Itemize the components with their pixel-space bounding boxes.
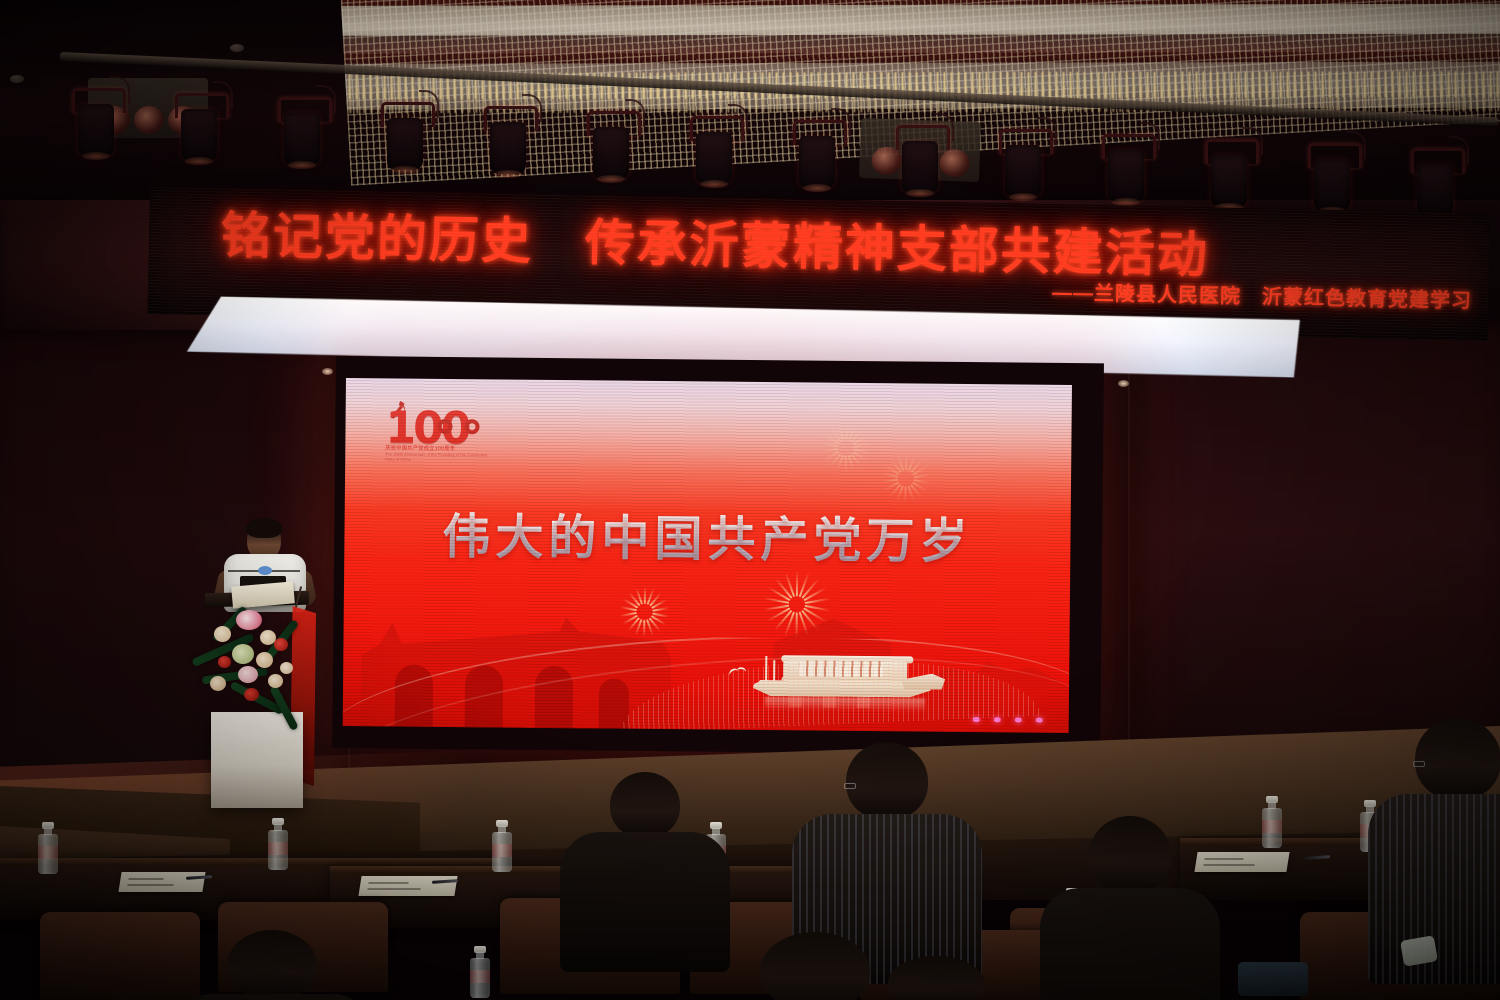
- downlight-icon: [322, 368, 333, 375]
- spotlight-1: [70, 88, 122, 162]
- spotlight-3: [276, 97, 328, 171]
- bag: [1238, 962, 1308, 996]
- smoke-detector-icon: [10, 75, 24, 83]
- water-bottle: [268, 818, 288, 870]
- wall-seam: [1128, 320, 1130, 790]
- downlight-icon: [1118, 380, 1129, 387]
- spotlight-13: [1306, 143, 1358, 217]
- lily-bloom: [236, 610, 262, 630]
- logo-zh-caption: 庆祝中国共产党成立100周年: [385, 444, 493, 453]
- banner-sub-text: ——兰陵县人民医院 沂蒙红色教育党建学习: [1052, 276, 1472, 313]
- spotlight-4: [379, 102, 431, 176]
- floral-arrangement: [198, 608, 328, 728]
- rose-bloom: [280, 662, 293, 674]
- audience-member: [836, 956, 1036, 1000]
- screen-title: 伟大的中国共产党万岁: [344, 496, 1071, 573]
- logo-ring-1: [437, 419, 452, 434]
- document-sheet: [358, 876, 457, 896]
- glasses-icon: [1413, 761, 1425, 767]
- red-bloom: [218, 656, 231, 668]
- water-bottle: [470, 946, 490, 998]
- logo-ring-2: [464, 419, 479, 434]
- spotlight-10: [997, 129, 1049, 203]
- conference-hall-photo: 铭记党的历史 传承沂蒙精神支部共建活动 ——兰陵县人民医院 沂蒙红色教育党建学习…: [0, 0, 1500, 1000]
- red-bloom: [244, 688, 259, 701]
- spotlight-8: [791, 120, 843, 194]
- audience-member: [1040, 816, 1220, 1000]
- spotlight-6: [585, 111, 637, 185]
- banner-main-text: 铭记党的历史 传承沂蒙精神支部共建活动: [220, 195, 1209, 287]
- water-bottle: [1262, 796, 1282, 848]
- spotlight-2: [173, 93, 225, 167]
- spotlight-5: [482, 106, 534, 180]
- smoke-detector-icon: [230, 44, 244, 52]
- cpc-centenary-logo: 100 庆祝中国共产党成立100周年 The 100th Anniversary…: [385, 402, 496, 465]
- red-bloom: [274, 638, 288, 651]
- water-bottle: [492, 820, 512, 872]
- logo-en-caption: The 100th Anniversary of the Founding of…: [385, 452, 493, 464]
- led-pixel-dots: [973, 717, 1043, 723]
- rose-bloom: [268, 674, 283, 688]
- water-bottle: [38, 822, 58, 874]
- wave-ribbon-graphic: [343, 634, 1070, 733]
- green-bloom: [232, 644, 254, 664]
- spotlight-7: [688, 116, 740, 190]
- orchid-bloom: [238, 666, 258, 683]
- glasses-icon: [844, 783, 856, 789]
- rose-bloom: [256, 652, 273, 668]
- audience-member: [172, 930, 372, 1000]
- document-sheet: [118, 872, 205, 892]
- spotlight-12: [1203, 139, 1255, 213]
- spotlight-9: [894, 125, 946, 199]
- table-surface: [0, 858, 500, 866]
- rose-bloom: [214, 626, 231, 642]
- rose-bloom: [210, 676, 226, 691]
- spotlight-11: [1100, 134, 1152, 208]
- presentation-screen: 100 庆祝中国共产党成立100周年 The 100th Anniversary…: [343, 378, 1072, 733]
